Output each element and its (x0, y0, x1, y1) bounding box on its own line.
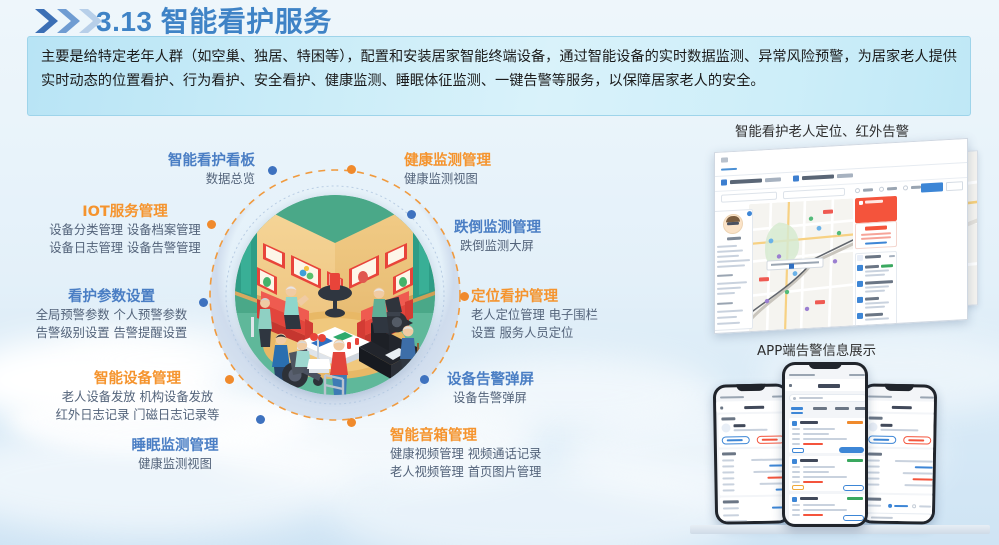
label-line: 设备分类管理 设备档案管理 (10, 222, 240, 240)
phone-right[interactable] (859, 383, 937, 524)
label-line: 全局预警参数 个人预警参数 (5, 307, 218, 325)
label-device-alarm-popup[interactable]: 设备告警弹屏 设备告警弹屏 (447, 371, 534, 408)
label-head: 智能音箱管理 (390, 427, 541, 446)
section-number: 3.13 (96, 6, 153, 37)
label-fall-detection-management[interactable]: 跌倒监测管理 跌倒监测大屏 (454, 219, 541, 256)
label-line: 健康监测视图 (60, 456, 290, 474)
section-title: 智能看护服务 (161, 6, 332, 37)
label-location-care-management[interactable]: 定位看护管理 老人定位管理 电子围栏 设置 服务人员定位 (471, 288, 598, 342)
label-smart-care-dashboard[interactable]: 智能看护看板 数据总览 (30, 152, 255, 189)
label-line: 设备告警弹屏 (447, 390, 534, 408)
label-head: 跌倒监测管理 (454, 219, 541, 238)
label-line: 红外日志记录 门磁日志记录等 (30, 407, 245, 425)
label-head: 睡眠监测管理 (60, 437, 290, 456)
phone-center[interactable] (782, 362, 868, 527)
label-head: IOT服务管理 (10, 203, 240, 222)
label-iot-service-management[interactable]: IOT服务管理 设备分类管理 设备档案管理 设备日志管理 设备告警管理 (10, 203, 240, 257)
phone-left[interactable] (713, 383, 791, 524)
showcase-caption-top: 智能看护老人定位、红外告警 (735, 120, 909, 140)
label-head: 健康监测管理 (404, 152, 491, 171)
label-smart-speaker-management[interactable]: 智能音箱管理 健康视频管理 视频通话记录 老人视频管理 首页图片管理 (390, 427, 541, 481)
label-line: 老人视频管理 首页图片管理 (390, 464, 541, 482)
diagram-dot-health-monitoring[interactable] (347, 165, 356, 174)
service-circle-diagram (210, 170, 460, 420)
diagram-dot-smart-care-dashboard[interactable] (268, 166, 277, 175)
location-dashboard-screenshot[interactable] (714, 138, 968, 334)
label-line: 设置 服务人员定位 (471, 325, 598, 343)
diagram-dot-sleep-monitoring[interactable] (256, 415, 265, 424)
diagram-dot-smart-speaker[interactable] (347, 418, 356, 427)
label-health-monitoring-management[interactable]: 健康监测管理 健康监测视图 (404, 152, 491, 189)
showcase-caption-bottom: APP端告警信息展示 (757, 339, 876, 359)
phone-right-screen[interactable] (862, 386, 934, 521)
description-box: 主要是给特定老年人群（如空巢、独居、特困等），配置和安装居家智能终端设备，通过智… (27, 36, 971, 116)
label-smart-device-management[interactable]: 智能设备管理 老人设备发放 机构设备发放 红外日志记录 门磁日志记录等 (30, 370, 245, 424)
diagram-dot-fall-detection[interactable] (407, 210, 416, 219)
label-sleep-monitoring-management[interactable]: 睡眠监测管理 健康监测视图 (60, 437, 290, 474)
label-line: 老人定位管理 电子围栏 (471, 307, 598, 325)
label-line: 数据总览 (30, 171, 255, 189)
description-text: 主要是给特定老年人群（如空巢、独居、特困等），配置和安装居家智能终端设备，通过智… (41, 45, 957, 93)
slide-root: 3.13 智能看护服务 主要是给特定老年人群（如空巢、独居、特困等），配置和安装… (0, 0, 999, 545)
label-line: 健康视频管理 视频通话记录 (390, 446, 541, 464)
label-head: 看护参数设置 (5, 288, 218, 307)
diagram-dot-device-alarm[interactable] (420, 375, 429, 384)
phone-left-screen[interactable] (716, 386, 788, 521)
label-line: 设备日志管理 设备告警管理 (10, 240, 240, 258)
page-title: 3.13 智能看护服务 (96, 0, 332, 40)
label-head: 智能设备管理 (30, 370, 245, 389)
diagram-dot-location-care[interactable] (460, 292, 469, 301)
mobile-app-screenshots (706, 362, 986, 532)
label-care-parameter-settings[interactable]: 看护参数设置 全局预警参数 个人预警参数 告警级别设置 告警提醒设置 (5, 288, 218, 342)
label-line: 告警级别设置 告警提醒设置 (5, 325, 218, 343)
nursing-home-lounge-illustration (235, 195, 435, 395)
label-line: 健康监测视图 (404, 171, 491, 189)
label-head: 设备告警弹屏 (447, 371, 534, 390)
label-head: 智能看护看板 (30, 152, 255, 171)
phone-center-screen[interactable] (785, 365, 865, 524)
label-head: 定位看护管理 (471, 288, 598, 307)
label-line: 跌倒监测大屏 (454, 238, 541, 256)
label-line: 老人设备发放 机构设备发放 (30, 389, 245, 407)
